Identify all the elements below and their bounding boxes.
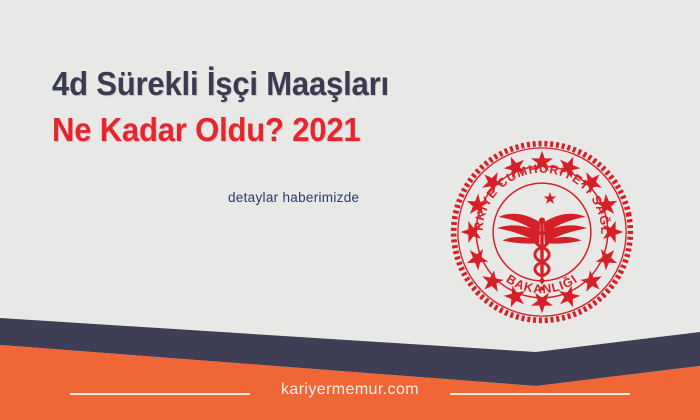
ministry-of-health-seal: TÜRKİYE CUMHURİYETİ SAĞLIK BAKANLIĞI	[448, 138, 636, 326]
footer-site-name[interactable]: kariyermemur.com	[0, 381, 700, 399]
subtitle-text: detaylar haberimizde	[228, 190, 359, 205]
crescent-moon-icon	[526, 187, 542, 219]
caduceus-knob-icon	[539, 218, 545, 224]
promo-banner: 4d Sürekli İşçi Maaşları Ne Kadar Oldu? …	[0, 0, 700, 420]
headline-line-2: Ne Kadar Oldu? 2021	[52, 108, 494, 152]
seal-bottom-dot	[540, 286, 544, 290]
seal-star	[477, 267, 507, 297]
serpent-head-right-icon	[545, 229, 550, 234]
star-icon	[544, 192, 557, 204]
footer-rule-right	[450, 393, 630, 395]
serpent-head-left-icon	[535, 229, 540, 234]
headline-line-1: 4d Sürekli İşçi Maaşları	[52, 62, 494, 106]
